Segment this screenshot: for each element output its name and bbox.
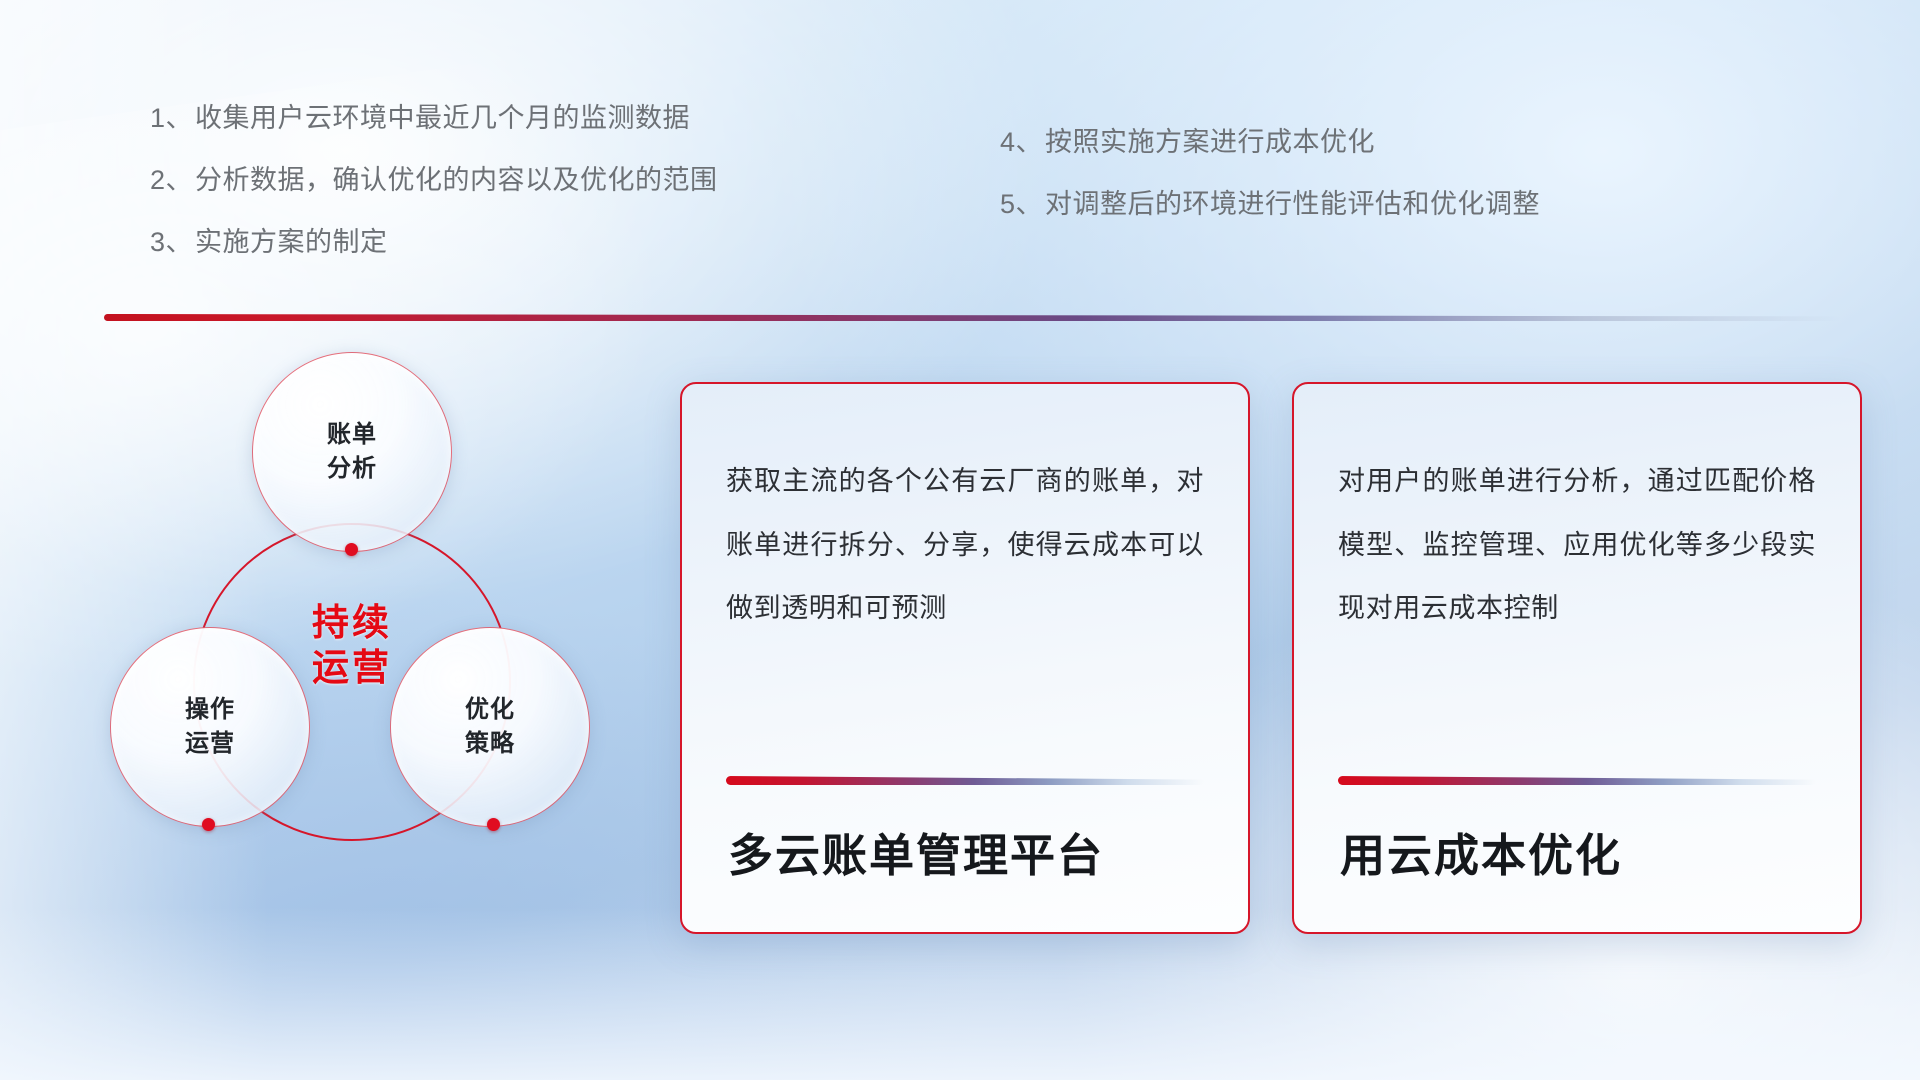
venn-node-dot-left (202, 818, 215, 831)
venn-bubble-left-line1: 操作 (185, 693, 235, 727)
steps-left-column: 1、 收集用户云环境中最近几个月的监测数据 2、 分析数据，确认优化的内容以及优… (150, 96, 718, 282)
venn-bubble-billing-analysis[interactable]: 账单 分析 (252, 352, 452, 552)
venn-bubble-right-line2: 策略 (465, 727, 515, 761)
step-text-4: 按照实施方案进行成本优化 (1045, 120, 1375, 159)
venn-center-label-line1: 持续 (312, 600, 392, 645)
step-text-1: 收集用户云环境中最近几个月的监测数据 (195, 96, 690, 135)
venn-bubble-left-line2: 运营 (185, 727, 235, 761)
step-item-3: 3、 实施方案的制定 (150, 220, 718, 259)
feature-card-2-divider (1338, 776, 1816, 785)
step-number-2: 2、 (150, 158, 193, 197)
step-text-5: 对调整后的环境进行性能评估和优化调整 (1045, 182, 1540, 221)
feature-card-1-title: 多云账单管理平台 (728, 819, 1204, 932)
steps-right-column: 4、 按照实施方案进行成本优化 5、 对调整后的环境进行性能评估和优化调整 (1000, 120, 1540, 244)
venn-center-label-line2: 运营 (312, 645, 392, 690)
step-number-1: 1、 (150, 96, 193, 135)
feature-card-1-divider (726, 776, 1204, 785)
step-item-5: 5、 对调整后的环境进行性能评估和优化调整 (1000, 182, 1540, 221)
feature-card-cloud-cost-optimization[interactable]: 对用户的账单进行分析，通过匹配价格模型、监控管理、应用优化等多少段实现对用云成本… (1292, 382, 1862, 934)
venn-bubble-top-line1: 账单 (327, 418, 377, 452)
feature-card-multicloud-billing[interactable]: 获取主流的各个公有云厂商的账单，对账单进行拆分、分享，使得云成本可以做到透明和可… (680, 382, 1250, 934)
step-text-3: 实施方案的制定 (195, 220, 388, 259)
venn-bubble-top-line2: 分析 (327, 452, 377, 486)
step-item-4: 4、 按照实施方案进行成本优化 (1000, 120, 1540, 159)
venn-node-dot-top (345, 543, 358, 556)
venn-node-dot-right (487, 818, 500, 831)
venn-bubble-left-label: 操作 运营 (185, 693, 235, 761)
step-item-1: 1、 收集用户云环境中最近几个月的监测数据 (150, 96, 718, 135)
venn-diagram: 持续 运营 账单 分析 操作 运营 优化 策略 (100, 355, 620, 925)
venn-bubble-right-line1: 优化 (465, 693, 515, 727)
step-number-3: 3、 (150, 220, 193, 259)
step-number-5: 5、 (1000, 182, 1043, 221)
feature-card-1-body: 获取主流的各个公有云厂商的账单，对账单进行拆分、分享，使得云成本可以做到透明和可… (726, 450, 1204, 641)
step-item-2: 2、 分析数据，确认优化的内容以及优化的范围 (150, 158, 718, 197)
step-text-2: 分析数据，确认优化的内容以及优化的范围 (195, 158, 718, 197)
venn-bubble-right-label: 优化 策略 (465, 693, 515, 761)
venn-bubble-operations[interactable]: 操作 运营 (110, 627, 310, 827)
venn-bubble-top-label: 账单 分析 (327, 418, 377, 486)
feature-card-2-body: 对用户的账单进行分析，通过匹配价格模型、监控管理、应用优化等多少段实现对用云成本… (1338, 450, 1816, 641)
step-number-4: 4、 (1000, 120, 1043, 159)
venn-bubble-optimization-strategy[interactable]: 优化 策略 (390, 627, 590, 827)
feature-card-2-title: 用云成本优化 (1340, 819, 1816, 932)
